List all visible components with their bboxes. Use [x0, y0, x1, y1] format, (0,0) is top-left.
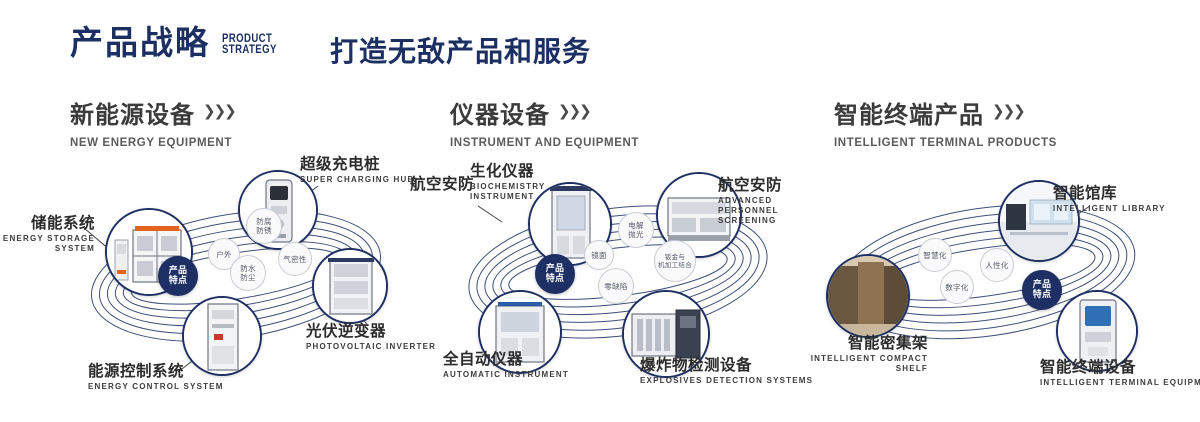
section-title-cn: 智能终端产品 [834, 95, 984, 130]
section-title-cn: 新能源设备 [70, 95, 195, 130]
core-bubble-line1: 产品 [546, 264, 565, 274]
chevron-right-icon: ❯❯❯ [992, 102, 1024, 120]
feature-label: 防腐防锈 [256, 217, 272, 235]
caption-charging-hub: 超级充电桩 SUPER CHARGING HUB [300, 155, 415, 185]
core-bubble-line2: 特点 [1033, 290, 1052, 300]
caption-compact-shelf: 智能密集架 INTELLIGENT COMPACT SHELF [800, 334, 928, 374]
caption-energy-storage: 储能系统 ENERGY STORAGE SYSTEM [0, 214, 95, 254]
feature-label: 数字化 [945, 283, 968, 292]
core-bubble-line2: 特点 [169, 276, 188, 286]
caption-en: PHOTOVOLTAIC INVERTER [306, 342, 436, 352]
caption-biochemistry: 生化仪器 BIOCHEMISTRY INSTRUMENT [470, 162, 575, 202]
chevron-right-icon: ❯❯❯ [558, 102, 590, 120]
caption-automatic-instrument: 全自动仪器 AUTOMATIC INSTRUMENT [443, 350, 569, 380]
core-bubble-line1: 产品 [1033, 280, 1052, 290]
feature-label: 镜面 [591, 251, 607, 260]
caption-en: BIOCHEMISTRY INSTRUMENT [470, 182, 575, 202]
section-title-en: INTELLIGENT TERMINAL PRODUCTS [834, 137, 1057, 149]
caption-en: ENERGY STORAGE SYSTEM [0, 234, 95, 254]
caption-cn: 生化仪器 [470, 162, 575, 180]
caption-en: INTELLIGENT COMPACT SHELF [800, 354, 928, 374]
caption-cn: 智能密集架 [800, 334, 928, 352]
section-heading-intelligent-terminal: 智能终端产品❯❯❯ INTELLIGENT TERMINAL PRODUCTS [834, 95, 1057, 149]
caption-en: ENERGY CONTROL SYSTEM [88, 382, 224, 392]
feature-label: 人性化 [985, 261, 1008, 270]
product-strategy-infographic: 产品战略 PRODUCT STRATEGY 打造无敌产品和服务 新能源设备❯❯❯… [0, 0, 1200, 422]
feature-label: 电解抛光 [628, 221, 644, 239]
product-photo-pv-inverter[interactable] [312, 248, 388, 324]
feature-bubble-intelligent[interactable]: 智慧化 [918, 238, 952, 272]
feature-label: 户外 [216, 250, 232, 259]
product-photo-compact-shelf[interactable] [826, 254, 910, 338]
caption-terminal-equipment: 智能终端设备 INTELLIGENT TERMINAL EQUIPMENT [1040, 358, 1200, 388]
section-title-en: INSTRUMENT AND EQUIPMENT [450, 137, 639, 149]
feature-label: 钣金与机加工结合 [658, 253, 692, 269]
feature-label: 智慧化 [923, 251, 946, 260]
section-title-en: NEW ENERGY EQUIPMENT [70, 137, 235, 149]
chevron-right-icon: ❯❯❯ [203, 102, 235, 120]
feature-core-bubble[interactable]: 产品 特点 [535, 254, 575, 294]
section-title-cn: 仪器设备 [450, 95, 550, 130]
section-heading-new-energy: 新能源设备❯❯❯ NEW ENERGY EQUIPMENT [70, 95, 235, 149]
caption-pv-inverter: 光伏逆变器 PHOTOVOLTAIC INVERTER [306, 322, 436, 352]
feature-bubble-humanized[interactable]: 人性化 [980, 248, 1014, 282]
caption-cn: 能源控制系统 [88, 362, 224, 380]
caption-explosives-detection: 爆炸物检测设备 EXPLOSIVES DETECTION SYSTEMS [640, 356, 813, 386]
feature-core-bubble[interactable]: 产品 特点 [1022, 270, 1062, 310]
page-title-cn: 产品战略 [70, 26, 210, 59]
caption-cn: 智能终端设备 [1040, 358, 1200, 376]
feature-bubble-waterproof[interactable]: 防水防尘 [230, 255, 266, 291]
caption-aviation-security-left: 航空安防 [410, 175, 474, 193]
caption-en: INTELLIGENT TERMINAL EQUIPMENT [1040, 378, 1200, 388]
caption-cn: 光伏逆变器 [306, 322, 436, 340]
feature-label: 防水防尘 [240, 264, 256, 282]
page-header: 产品战略 PRODUCT STRATEGY [70, 26, 290, 59]
feature-label: 气密性 [283, 255, 306, 264]
page-subtitle: 打造无敌产品和服务 [330, 30, 591, 70]
caption-en: EXPLOSIVES DETECTION SYSTEMS [640, 376, 813, 386]
caption-intelligent-library: 智能馆库 INTELLIGENT LIBRARY [1053, 184, 1166, 214]
caption-en: INTELLIGENT LIBRARY [1053, 204, 1166, 214]
feature-bubble-electropolish[interactable]: 电解抛光 [618, 212, 654, 248]
caption-en: AUTOMATIC INSTRUMENT [443, 370, 569, 380]
caption-cn: 储能系统 [0, 214, 95, 232]
feature-bubble-airtight[interactable]: 气密性 [278, 242, 312, 276]
feature-core-bubble[interactable]: 产品 特点 [158, 256, 198, 296]
core-bubble-line1: 产品 [169, 266, 188, 276]
caption-cn: 爆炸物检测设备 [640, 356, 813, 374]
feature-bubble-zerodefect[interactable]: 零缺陷 [598, 268, 634, 304]
page-title-en-line2: STRATEGY [222, 44, 277, 55]
section-heading-instrument: 仪器设备❯❯❯ INSTRUMENT AND EQUIPMENT [450, 95, 639, 149]
caption-energy-control: 能源控制系统 ENERGY CONTROL SYSTEM [88, 362, 224, 392]
feature-bubble-anticorrosion[interactable]: 防腐防锈 [246, 208, 282, 244]
caption-cn: 超级充电桩 [300, 155, 415, 173]
page-title-en: PRODUCT STRATEGY [222, 30, 277, 55]
caption-cn: 航空安防 [410, 175, 474, 193]
feature-bubble-sheetmetal[interactable]: 钣金与机加工结合 [654, 240, 696, 282]
feature-bubble-digital[interactable]: 数字化 [940, 270, 974, 304]
feature-bubble-mirror[interactable]: 镜面 [584, 240, 614, 270]
caption-en: SUPER CHARGING HUB [300, 175, 415, 185]
feature-label: 零缺陷 [604, 282, 627, 291]
core-bubble-line2: 特点 [546, 274, 565, 284]
caption-cn: 全自动仪器 [443, 350, 569, 368]
caption-cn: 智能馆库 [1053, 184, 1166, 202]
